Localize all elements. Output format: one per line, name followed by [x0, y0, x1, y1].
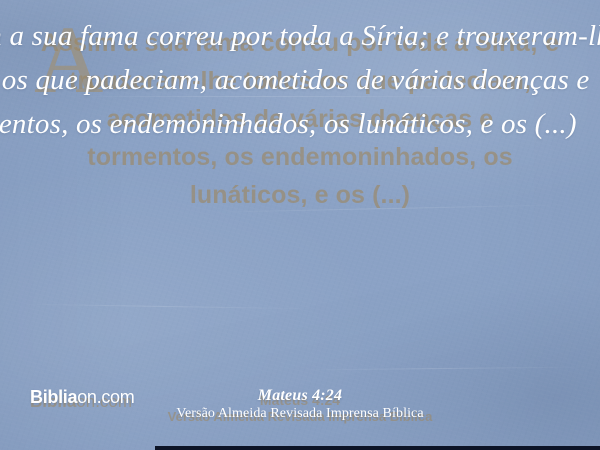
site-logo[interactable]: Bibliaon.com: [30, 386, 134, 408]
paper-crease-4: [300, 366, 590, 370]
ghost-version: Versão Almeida Revisada Imprensa Bíblica: [40, 409, 560, 425]
background-texture-fibers: [0, 0, 600, 450]
background-texture-blobs: [0, 0, 600, 450]
logo-bold-part: Biblia: [30, 387, 77, 407]
bible-version: Versão Almeida Revisada Imprensa Bíblica: [40, 405, 560, 423]
logo-light-part: on.com: [77, 387, 134, 407]
ghost-drop-cap: A: [34, 12, 103, 108]
paper-crease-2: [210, 204, 570, 213]
bottom-dark-bar: [155, 446, 600, 450]
background-texture-shading: [0, 0, 600, 450]
verse-card: A Assim a sua fama correu por toda a Sír…: [0, 0, 600, 450]
ghost-verse-text: Assim a sua fama correu por toda a Síria…: [40, 24, 560, 214]
verse-text: Assim a sua fama correu por toda a Síria…: [0, 14, 600, 146]
paper-crease-3: [20, 304, 320, 310]
ghost-citation: Mateus 4:24: [40, 392, 560, 409]
ghost-logo-light: on.com: [76, 392, 132, 411]
paper-crease-1: [60, 96, 490, 97]
ghost-text-layer: A Assim a sua fama correu por toda a Sír…: [0, 0, 600, 450]
ghost-reference-block: Mateus 4:24 Versão Almeida Revisada Impr…: [40, 392, 560, 425]
ghost-logo-bold: Biblia: [30, 392, 76, 411]
verse-citation: Mateus 4:24: [40, 386, 560, 405]
verse-text-layer: Assim a sua fama correu por toda a Síria…: [0, 0, 600, 450]
verse-body: ssim a sua fama correu por toda a Síria;…: [0, 20, 600, 140]
ghost-site-logo: Bibliaon.com: [30, 392, 132, 412]
reference-block: Mateus 4:24 Versão Almeida Revisada Impr…: [40, 386, 560, 423]
